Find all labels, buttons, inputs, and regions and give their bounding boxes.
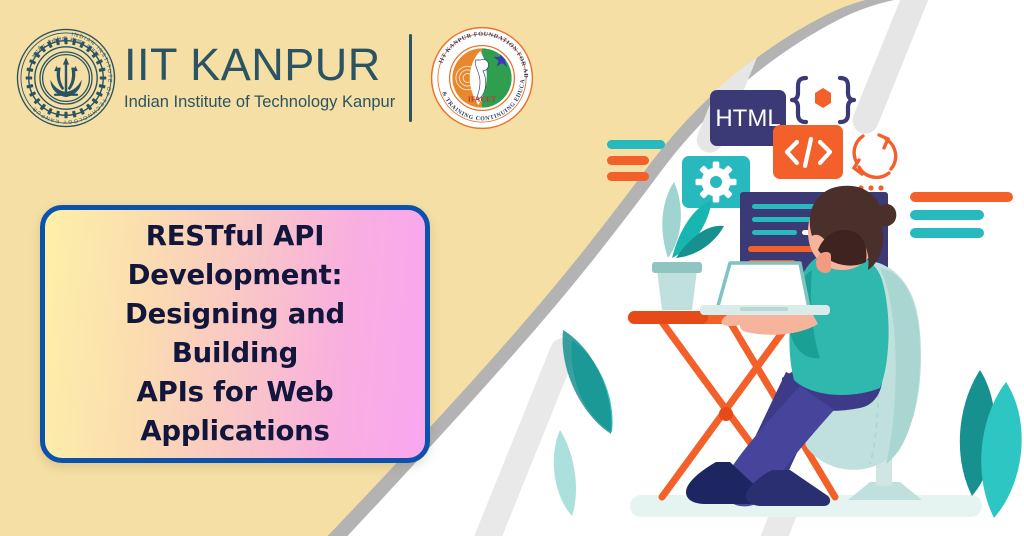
course-title-line: Development: bbox=[128, 259, 343, 291]
text-bar-teal-1 bbox=[910, 210, 984, 220]
plant-pot bbox=[657, 270, 697, 310]
text-bar-teal-2 bbox=[910, 228, 984, 238]
brand-header: INDIAN INSTITUTE OF TECHNOLOGY KANPUR भा… bbox=[14, 24, 536, 132]
course-title-line: RESTful API bbox=[146, 220, 325, 252]
desk-top-shadow bbox=[628, 311, 708, 324]
iit-kanpur-seal: INDIAN INSTITUTE OF TECHNOLOGY KANPUR भा… bbox=[14, 26, 118, 130]
text-bar-orange bbox=[910, 192, 1013, 202]
course-title-line: Designing and Building bbox=[125, 298, 345, 369]
gear-icon bbox=[696, 162, 737, 203]
text-bar-orange-2 bbox=[607, 172, 649, 181]
text-bar-teal bbox=[607, 140, 665, 149]
course-banner: HTML bbox=[0, 0, 1024, 536]
course-title-text: RESTful APIDevelopment:Designing and Bui… bbox=[45, 217, 425, 451]
html-card-label: HTML bbox=[715, 105, 780, 132]
institute-subtitle: Indian Institute of Technology Kanpur bbox=[124, 93, 395, 113]
course-title-line: APIs for Web bbox=[137, 376, 334, 408]
trident-motif bbox=[50, 57, 81, 97]
plant-pot-rim bbox=[652, 262, 702, 273]
code-tag-card bbox=[773, 125, 843, 179]
iit-kanpur-wordmark: IIT KANPUR Indian Institute of Technolog… bbox=[124, 43, 409, 113]
refresh-arrows-icon bbox=[854, 135, 896, 177]
course-title-card: RESTful APIDevelopment:Designing and Bui… bbox=[40, 205, 430, 463]
course-title-line: Applications bbox=[140, 415, 329, 447]
text-bar-orange-1 bbox=[607, 156, 649, 165]
logo-divider bbox=[409, 34, 412, 122]
ifacet-label: IFACET bbox=[468, 94, 496, 103]
hexagon-dot-icon bbox=[815, 88, 831, 108]
institute-name: IIT KANPUR bbox=[124, 43, 395, 87]
leaf-bottom-left bbox=[554, 430, 576, 516]
text-bars-right bbox=[910, 192, 1013, 238]
text-bars-left bbox=[607, 140, 665, 181]
ifacet-seal: IIT KANPUR FOUNDATION FOR ADVANCED & TRA… bbox=[428, 24, 536, 132]
